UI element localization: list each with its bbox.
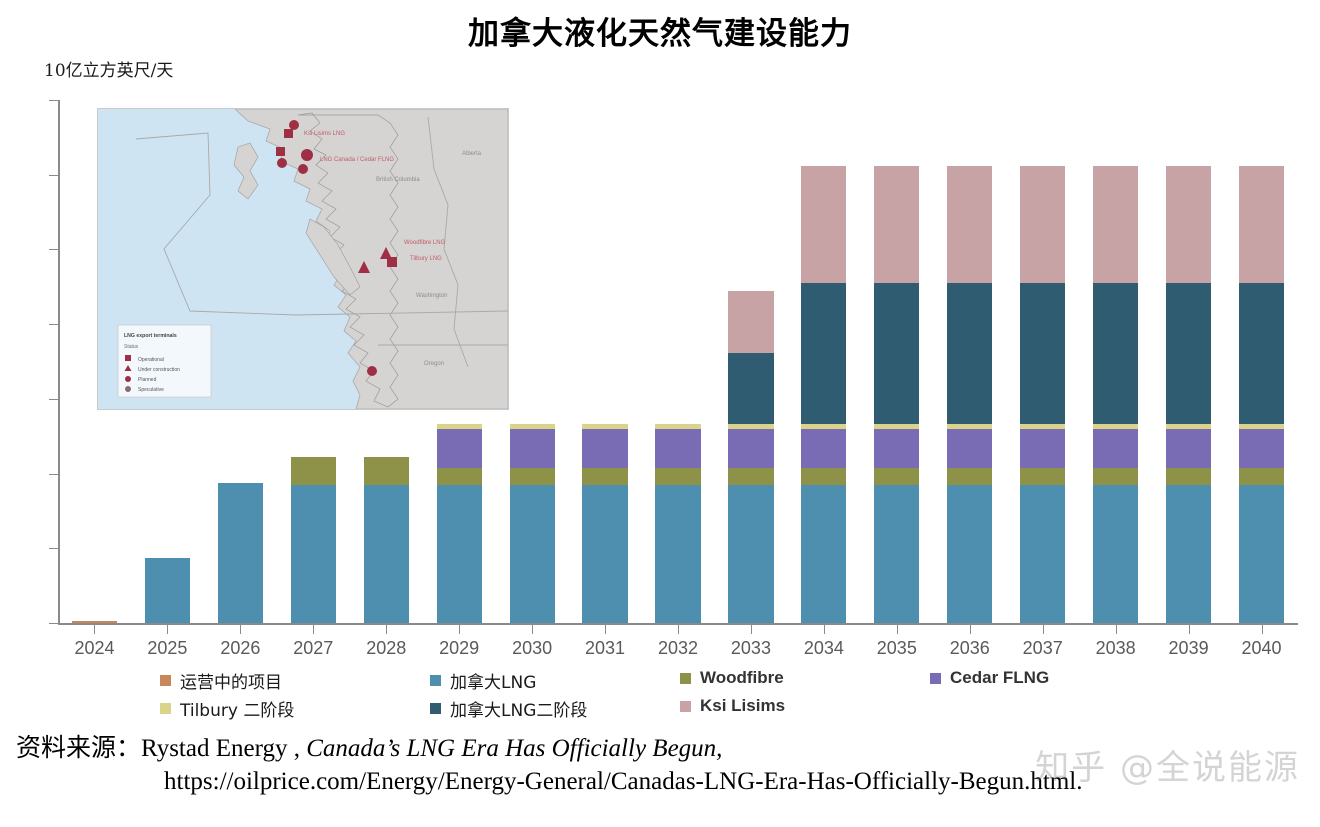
legend-swatch-icon [680, 673, 691, 684]
x-tick-2026 [240, 625, 241, 634]
bar-2036[interactable] [947, 100, 992, 623]
bar-segment[interactable] [947, 166, 992, 283]
bar-segment[interactable] [1093, 283, 1138, 423]
bar-segment[interactable] [1093, 424, 1138, 429]
bar-segment[interactable] [655, 485, 700, 623]
x-tick-2027 [313, 625, 314, 634]
map-legend-label-speculative: Speculative [138, 387, 164, 393]
bar-segment[interactable] [1020, 485, 1065, 623]
bar-segment[interactable] [728, 429, 773, 469]
legend-item-label: Cedar FLNG [950, 668, 1049, 688]
legend-item-label: Tilbury 二阶段 [180, 696, 294, 721]
page-title: 加拿大液化天然气建设能力 [0, 8, 1320, 53]
bar-segment[interactable] [1239, 283, 1284, 423]
y-tick-1 [49, 548, 58, 549]
bar-segment[interactable] [437, 429, 482, 469]
map-marker-planned-3 [298, 164, 308, 174]
map-province-label-1: British Columbia [376, 177, 420, 183]
y-axis-line [58, 100, 60, 624]
source-publisher: Rystad Energy , [141, 735, 306, 762]
x-tick-2039 [1189, 625, 1190, 634]
bar-segment[interactable] [655, 468, 700, 484]
legend-swatch-icon [930, 673, 941, 684]
legend-item-label: Ksi Lisims [700, 696, 785, 716]
bar-segment[interactable] [1166, 283, 1211, 423]
y-tick-3 [49, 399, 58, 400]
x-tick-2031 [605, 625, 606, 634]
bar-segment[interactable] [1020, 429, 1065, 469]
bar-2038[interactable] [1093, 100, 1138, 623]
map-legend-subtitle: Status [124, 344, 139, 350]
bar-segment[interactable] [437, 468, 482, 484]
bar-segment[interactable] [801, 424, 846, 429]
bar-segment[interactable] [655, 429, 700, 469]
bar-2033[interactable] [728, 100, 773, 623]
legend-swatch-icon [160, 675, 171, 686]
x-tick-label-2032: 2032 [638, 638, 718, 659]
x-tick-label-2034: 2034 [784, 638, 864, 659]
bar-segment[interactable] [801, 283, 846, 423]
x-tick-2032 [678, 625, 679, 634]
bar-segment[interactable] [510, 468, 555, 484]
x-tick-label-2024: 2024 [54, 638, 134, 659]
y-axis-unit-label: 10亿立方英尺/天 [44, 56, 173, 81]
bar-2031[interactable] [582, 100, 627, 623]
source-url[interactable]: https://oilprice.com/Energy/Energy-Gener… [164, 768, 1306, 796]
map-marker-operational-2 [276, 147, 285, 156]
y-tick-5 [49, 249, 58, 250]
bar-segment[interactable] [947, 283, 992, 423]
bar-segment[interactable] [801, 429, 846, 469]
bar-segment[interactable] [874, 485, 919, 623]
map-site-label-2: Woodfibre LNG [404, 240, 446, 246]
bar-segment[interactable] [728, 424, 773, 429]
legend-item-label: Woodfibre [700, 668, 784, 688]
legend-item[interactable]: 加拿大LNG二阶段 [430, 696, 587, 721]
x-tick-2038 [1116, 625, 1117, 634]
map-site-label-0: Ksi Lisims LNG [304, 131, 345, 137]
bar-segment[interactable] [1093, 468, 1138, 484]
x-tick-2024 [94, 625, 95, 634]
map-legend-icon-speculative [125, 386, 131, 392]
map-legend-label-under-construction: Under construction [138, 367, 180, 373]
bar-segment[interactable] [437, 485, 482, 623]
x-tick-label-2035: 2035 [857, 638, 937, 659]
legend-item[interactable]: Woodfibre [680, 668, 784, 688]
bar-segment[interactable] [72, 621, 117, 623]
bar-segment[interactable] [582, 485, 627, 623]
y-tick-6 [49, 175, 58, 176]
map-marker-planned-2 [301, 149, 313, 161]
bar-segment[interactable] [1239, 429, 1284, 469]
source-block: 资料来源：Rystad Energy , Canada’s LNG Era Ha… [16, 728, 1306, 796]
bar-segment[interactable] [801, 166, 846, 283]
map-marker-operational-3 [387, 257, 397, 267]
source-article-title: Canada’s LNG Era Has Officially Begun, [306, 735, 722, 762]
bar-segment[interactable] [874, 429, 919, 469]
legend-item[interactable]: Cedar FLNG [930, 668, 1049, 688]
x-tick-2033 [751, 625, 752, 634]
map-inset: Ksi Lisims LNG LNG Canada / Cedar FLNG W… [97, 108, 509, 410]
bar-segment[interactable] [1020, 468, 1065, 484]
legend-swatch-icon [430, 675, 441, 686]
source-prefix: 资料来源： [16, 733, 141, 762]
bar-segment[interactable] [510, 485, 555, 623]
bar-segment[interactable] [510, 424, 555, 429]
bar-segment[interactable] [1020, 424, 1065, 429]
x-tick-2029 [459, 625, 460, 634]
x-tick-label-2038: 2038 [1076, 638, 1156, 659]
bar-segment[interactable] [874, 166, 919, 283]
bar-segment[interactable] [1166, 424, 1211, 429]
x-tick-label-2040: 2040 [1222, 638, 1302, 659]
map-legend-title: LNG export terminals [124, 333, 177, 339]
legend-item[interactable]: Ksi Lisims [680, 696, 785, 716]
legend-swatch-icon [680, 701, 691, 712]
x-tick-label-2025: 2025 [127, 638, 207, 659]
bar-segment[interactable] [655, 424, 700, 429]
map-legend-label-planned: Planned [138, 377, 157, 383]
bar-2034[interactable] [801, 100, 846, 623]
bar-segment[interactable] [1239, 424, 1284, 429]
x-tick-2030 [532, 625, 533, 634]
x-tick-label-2026: 2026 [200, 638, 280, 659]
bar-segment[interactable] [1239, 166, 1284, 283]
map-marker-operational-1 [284, 129, 293, 138]
map-marker-planned-1 [277, 158, 287, 168]
legend-item[interactable]: 加拿大LNG [430, 668, 536, 693]
bar-segment[interactable] [874, 283, 919, 423]
bar-segment[interactable] [947, 485, 992, 623]
chart-legend: 运营中的项目Tilbury 二阶段加拿大LNG加拿大LNG二阶段Woodfibr… [160, 668, 1160, 722]
x-tick-label-2029: 2029 [419, 638, 499, 659]
x-tick-label-2030: 2030 [492, 638, 572, 659]
bar-segment[interactable] [947, 424, 992, 429]
x-tick-label-2027: 2027 [273, 638, 353, 659]
bar-segment[interactable] [364, 457, 409, 485]
bar-segment[interactable] [1093, 166, 1138, 283]
bar-segment[interactable] [728, 468, 773, 484]
map-site-label-1: LNG Canada / Cedar FLNG [320, 157, 394, 163]
map-province-label-0: Alberta [462, 151, 482, 157]
chart-page: 加拿大液化天然气建设能力 10亿立方英尺/天 01234567 20242025… [0, 0, 1320, 827]
y-tick-0 [49, 623, 58, 624]
bar-segment[interactable] [1239, 468, 1284, 484]
bar-segment[interactable] [1093, 485, 1138, 623]
x-tick-label-2028: 2028 [346, 638, 426, 659]
bar-2030[interactable] [510, 100, 555, 623]
x-tick-label-2036: 2036 [930, 638, 1010, 659]
x-tick-2037 [1043, 625, 1044, 634]
x-tick-label-2033: 2033 [711, 638, 791, 659]
y-tick-2 [49, 474, 58, 475]
bar-segment[interactable] [145, 558, 190, 623]
bar-segment[interactable] [947, 429, 992, 469]
legend-item-label: 加拿大LNG二阶段 [450, 696, 587, 721]
bar-segment[interactable] [510, 429, 555, 469]
bar-segment[interactable] [364, 485, 409, 623]
x-tick-label-2039: 2039 [1149, 638, 1229, 659]
bar-2037[interactable] [1020, 100, 1065, 623]
map-marker-speculative-1 [289, 120, 299, 130]
map-inset-svg: Ksi Lisims LNG LNG Canada / Cedar FLNG W… [98, 109, 508, 409]
x-tick-2034 [824, 625, 825, 634]
x-tick-2040 [1262, 625, 1263, 634]
legend-swatch-icon [430, 703, 441, 714]
bar-segment[interactable] [218, 483, 263, 623]
map-legend-icon-planned [125, 376, 131, 382]
map-province-label-2: Washington [416, 293, 447, 299]
bar-segment[interactable] [1166, 468, 1211, 484]
bar-segment[interactable] [291, 485, 336, 623]
legend-swatch-icon [160, 703, 171, 714]
bar-segment[interactable] [1093, 429, 1138, 469]
bar-segment[interactable] [728, 353, 773, 424]
map-legend-label-operational: Operational [138, 357, 164, 363]
bar-segment[interactable] [437, 424, 482, 429]
bar-segment[interactable] [291, 457, 336, 485]
bar-2040[interactable] [1239, 100, 1284, 623]
x-tick-label-2037: 2037 [1003, 638, 1083, 659]
bar-2035[interactable] [874, 100, 919, 623]
legend-item[interactable]: 运营中的项目 [160, 668, 282, 693]
map-legend: LNG export terminals Status Operational … [118, 325, 211, 397]
bar-segment[interactable] [728, 291, 773, 353]
x-tick-2028 [386, 625, 387, 634]
bar-segment[interactable] [1166, 485, 1211, 623]
x-tick-2025 [167, 625, 168, 634]
bar-2039[interactable] [1166, 100, 1211, 623]
map-site-label-3: Tilbury LNG [410, 256, 442, 262]
source-line-1: 资料来源：Rystad Energy , Canada’s LNG Era Ha… [16, 728, 1306, 764]
x-tick-2035 [897, 625, 898, 634]
y-tick-4 [49, 324, 58, 325]
bar-segment[interactable] [1166, 429, 1211, 469]
map-marker-speculative-2 [367, 366, 377, 376]
bar-segment[interactable] [874, 424, 919, 429]
bar-segment[interactable] [1239, 485, 1284, 623]
legend-item[interactable]: Tilbury 二阶段 [160, 696, 294, 721]
bar-segment[interactable] [1166, 166, 1211, 283]
bar-segment[interactable] [582, 424, 627, 429]
bar-segment[interactable] [1020, 166, 1065, 283]
legend-item-label: 运营中的项目 [180, 668, 282, 693]
bar-segment[interactable] [874, 468, 919, 484]
bar-segment[interactable] [582, 468, 627, 484]
map-legend-icon-operational [125, 355, 131, 361]
x-tick-2036 [970, 625, 971, 634]
map-province-label-3: Oregon [424, 361, 444, 367]
bar-segment[interactable] [1020, 283, 1065, 423]
legend-item-label: 加拿大LNG [450, 668, 536, 693]
bar-segment[interactable] [947, 468, 992, 484]
bar-segment[interactable] [801, 468, 846, 484]
bar-2032[interactable] [655, 100, 700, 623]
x-tick-label-2031: 2031 [565, 638, 645, 659]
y-tick-7 [49, 100, 58, 101]
bar-segment[interactable] [582, 429, 627, 469]
bar-segment[interactable] [728, 485, 773, 623]
bar-segment[interactable] [801, 485, 846, 623]
